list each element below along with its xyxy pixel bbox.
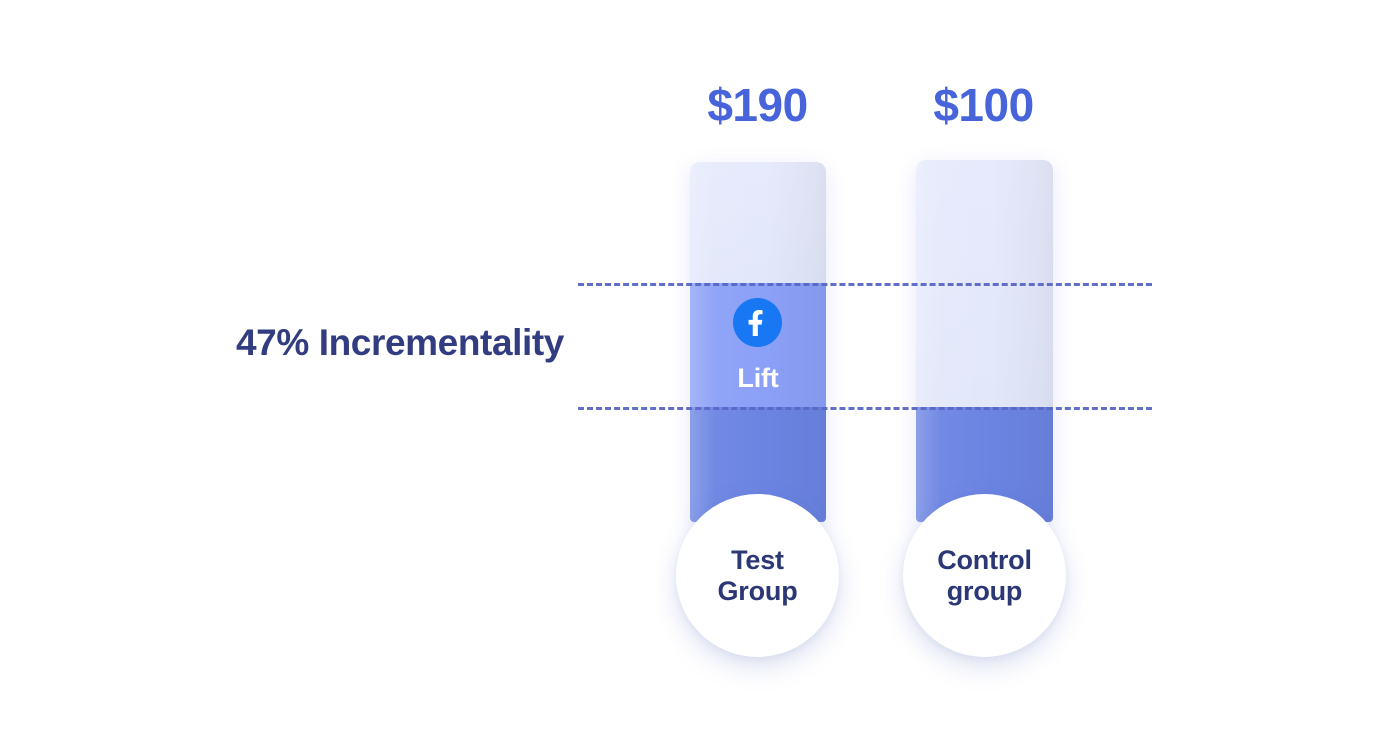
value-label-test: $190 — [640, 78, 875, 132]
lift-caption: Lift — [690, 363, 826, 394]
test-group-circle: Test Group — [676, 494, 839, 657]
bar-segment-headroom — [690, 162, 826, 283]
test-group-label-line1: Test — [731, 545, 784, 576]
control-group-label-line1: Control — [937, 545, 1032, 576]
value-label-control: $100 — [866, 78, 1101, 132]
control-group-circle: Control group — [903, 494, 1066, 657]
incrementality-annotation: 47% Incrementality — [180, 322, 620, 364]
bar-control-group — [916, 160, 1053, 522]
lower-dashed-line — [578, 407, 1152, 410]
chart-canvas: $190 $100 47% Incrementality Lift Test G… — [0, 0, 1400, 736]
upper-dashed-line — [578, 283, 1152, 286]
control-group-label-line2: group — [947, 576, 1022, 607]
test-group-label-line2: Group — [718, 576, 798, 607]
facebook-icon — [733, 298, 782, 347]
